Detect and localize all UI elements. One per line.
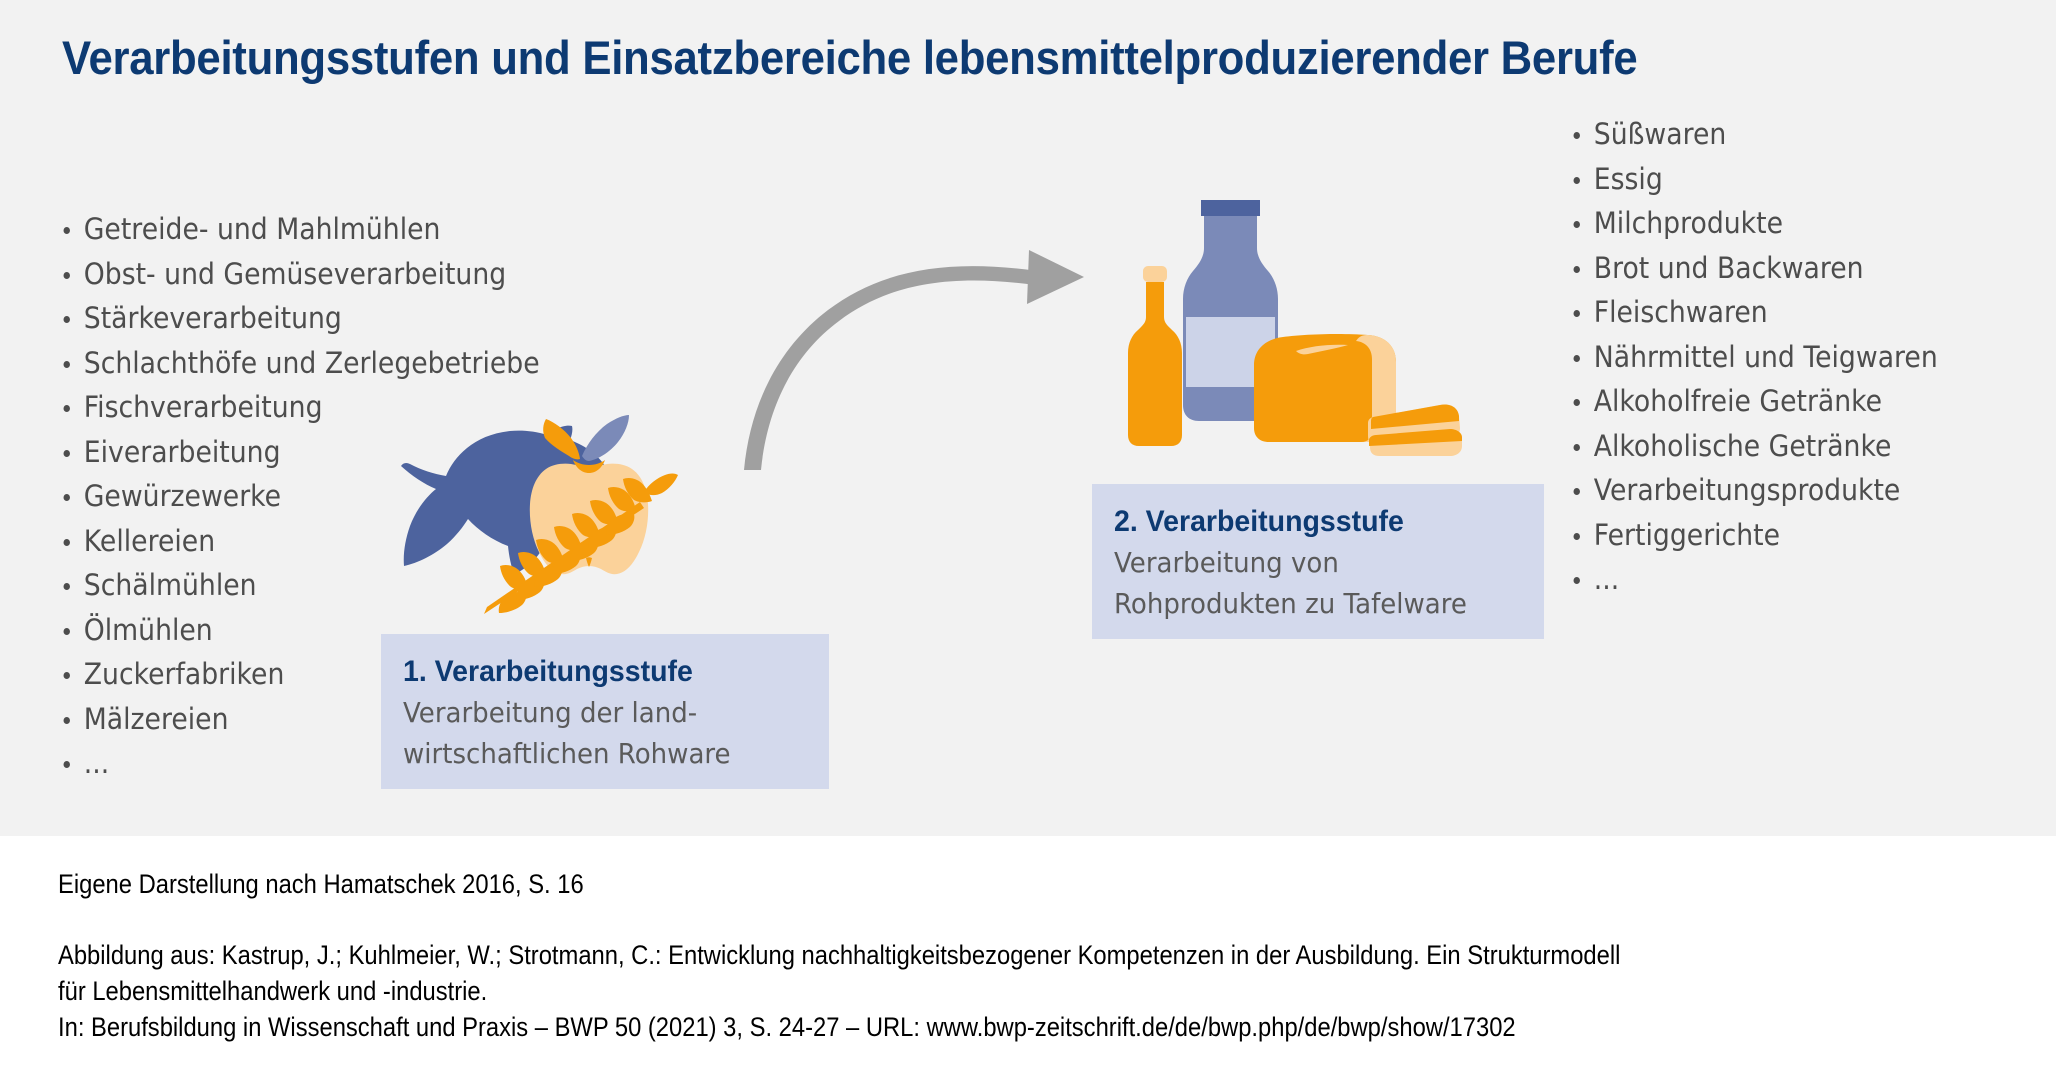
stage-2-title: 2. Verarbeitungsstufe — [1114, 502, 1502, 542]
list-item: Getreide- und Mahlmühlen — [58, 207, 540, 252]
page-title: Verarbeitungsstufen und Einsatzbereiche … — [62, 30, 1829, 85]
stage-1-description-line-2: wirtschaftlichen Rohware — [403, 733, 779, 774]
list-item: ... — [1568, 557, 1938, 602]
list-item: Alkoholfreie Getränke — [1568, 379, 1938, 424]
list-item: Milchprodukte — [1568, 201, 1938, 246]
citation-block: Abbildung aus: Kastrup, J.; Kuhlmeier, W… — [58, 937, 1620, 1045]
stage-2-label-box: 2. Verarbeitungsstufe Verarbeitung von R… — [1092, 484, 1544, 639]
apple-leaf — [582, 415, 629, 461]
list-item: Nährmittel und Teigwaren — [1568, 335, 1938, 380]
list-item: Fleischwaren — [1568, 290, 1938, 335]
list-item: Essig — [1568, 157, 1938, 202]
bread-loaf-icon — [1254, 334, 1462, 456]
stage-1-description-line-1: Verarbeitung der land- — [403, 692, 779, 733]
list-item: Stärkeverarbeitung — [58, 296, 540, 341]
curved-arrow-right-icon — [744, 250, 1084, 470]
list-item: Alkoholische Getränke — [1568, 424, 1938, 469]
list-item: Süßwaren — [1568, 112, 1938, 157]
citation-line-1: Abbildung aus: Kastrup, J.; Kuhlmeier, W… — [58, 937, 1620, 973]
list-item: Brot und Backwaren — [1568, 246, 1938, 291]
stage-2-description-line-2: Rohprodukten zu Tafelware — [1114, 583, 1493, 624]
finished-products-illustration — [1080, 165, 1510, 470]
citation-line-2: für Lebensmittelhandwerk und -industrie. — [58, 973, 1620, 1009]
list-item: Obst- und Gemüseverarbeitung — [58, 252, 540, 297]
stage-1-label-box: 1. Verarbeitungsstufe Verarbeitung der l… — [381, 634, 829, 789]
list-item: Fertiggerichte — [1568, 513, 1938, 558]
oil-bottle-icon — [1128, 266, 1182, 446]
stage-2-description-line-1: Verarbeitung von — [1114, 542, 1493, 583]
stage2-product-list: Süßwaren Essig Milchprodukte Brot und Ba… — [1568, 112, 1970, 602]
source-note: Eigene Darstellung nach Hamatschek 2016,… — [58, 866, 584, 902]
list-item: Verarbeitungsprodukte — [1568, 468, 1938, 513]
list-item: Schlachthöfe und Zerlegebetriebe — [58, 341, 540, 386]
stage-1-title: 1. Verarbeitungsstufe — [403, 652, 787, 692]
citation-line-3: In: Berufsbildung in Wissenschaft und Pr… — [58, 1009, 1620, 1045]
process-flow-arrow — [700, 230, 1100, 495]
infographic-canvas: Verarbeitungsstufen und Einsatzbereiche … — [0, 0, 2056, 1073]
